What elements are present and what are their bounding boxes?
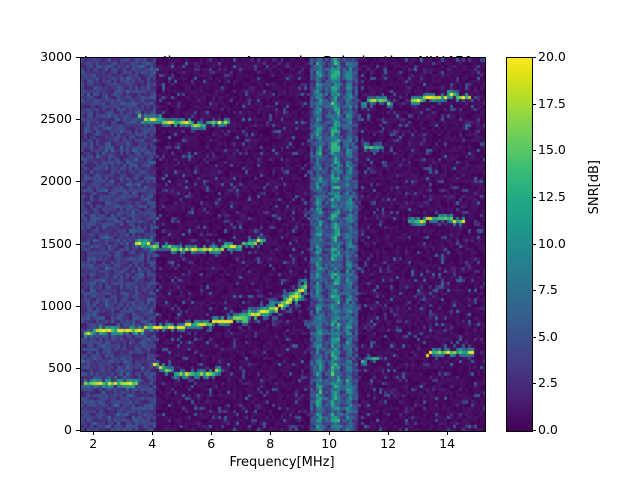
y-tick-label: 2500 — [0, 111, 72, 126]
x-tick-label: 8 — [240, 436, 300, 451]
y-tick-mark — [76, 181, 80, 182]
x-tick-label: 2 — [63, 436, 123, 451]
y-tick-label: 500 — [0, 360, 72, 375]
colorbar-tick-mark — [532, 244, 536, 245]
colorbar-tick-label: 7.5 — [538, 282, 608, 297]
y-tick-mark — [76, 430, 80, 431]
colorbar — [506, 57, 533, 432]
y-tick-mark — [76, 368, 80, 369]
x-tick-label: 10 — [299, 436, 359, 451]
x-tick-mark — [152, 431, 153, 435]
x-tick-label: 6 — [181, 436, 241, 451]
colorbar-gradient — [507, 58, 532, 431]
colorbar-tick-label: 0.0 — [538, 422, 608, 437]
x-axis-label: Frequency[MHz] — [0, 455, 564, 470]
y-tick-label: 3000 — [0, 49, 72, 64]
colorbar-tick-mark — [532, 197, 536, 198]
y-tick-mark — [76, 306, 80, 307]
y-tick-mark — [76, 57, 80, 58]
colorbar-tick-label: 17.5 — [538, 96, 608, 111]
colorbar-tick-mark — [532, 430, 536, 431]
colorbar-tick-mark — [532, 104, 536, 105]
x-tick-mark — [447, 431, 448, 435]
y-tick-label: 2000 — [0, 173, 72, 188]
colorbar-tick-mark — [532, 337, 536, 338]
ionogram-figure: Ionogram Jicamarca-Ayacucho Polarization… — [0, 0, 640, 480]
x-tick-mark — [270, 431, 271, 435]
plot-area — [80, 57, 486, 432]
colorbar-tick-mark — [532, 150, 536, 151]
x-tick-mark — [329, 431, 330, 435]
x-tick-mark — [211, 431, 212, 435]
colorbar-tick-mark — [532, 383, 536, 384]
x-tick-label: 14 — [417, 436, 477, 451]
y-tick-mark — [76, 119, 80, 120]
y-tick-mark — [76, 244, 80, 245]
x-tick-mark — [388, 431, 389, 435]
ionogram-heatmap — [81, 58, 485, 431]
colorbar-tick-label: 2.5 — [538, 375, 608, 390]
colorbar-tick-label: 5.0 — [538, 329, 608, 344]
x-tick-mark — [93, 431, 94, 435]
colorbar-tick-mark — [532, 57, 536, 58]
x-tick-label: 4 — [122, 436, 182, 451]
colorbar-label: SNR[dB] — [587, 160, 602, 214]
y-tick-label: 0 — [0, 422, 72, 437]
y-tick-label: 1000 — [0, 298, 72, 313]
colorbar-tick-mark — [532, 290, 536, 291]
colorbar-tick-label: 12.5 — [538, 189, 608, 204]
colorbar-tick-label: 10.0 — [538, 236, 608, 251]
y-tick-label: 1500 — [0, 236, 72, 251]
colorbar-tick-label: 20.0 — [538, 49, 608, 64]
x-tick-label: 12 — [358, 436, 418, 451]
colorbar-tick-label: 15.0 — [538, 142, 608, 157]
